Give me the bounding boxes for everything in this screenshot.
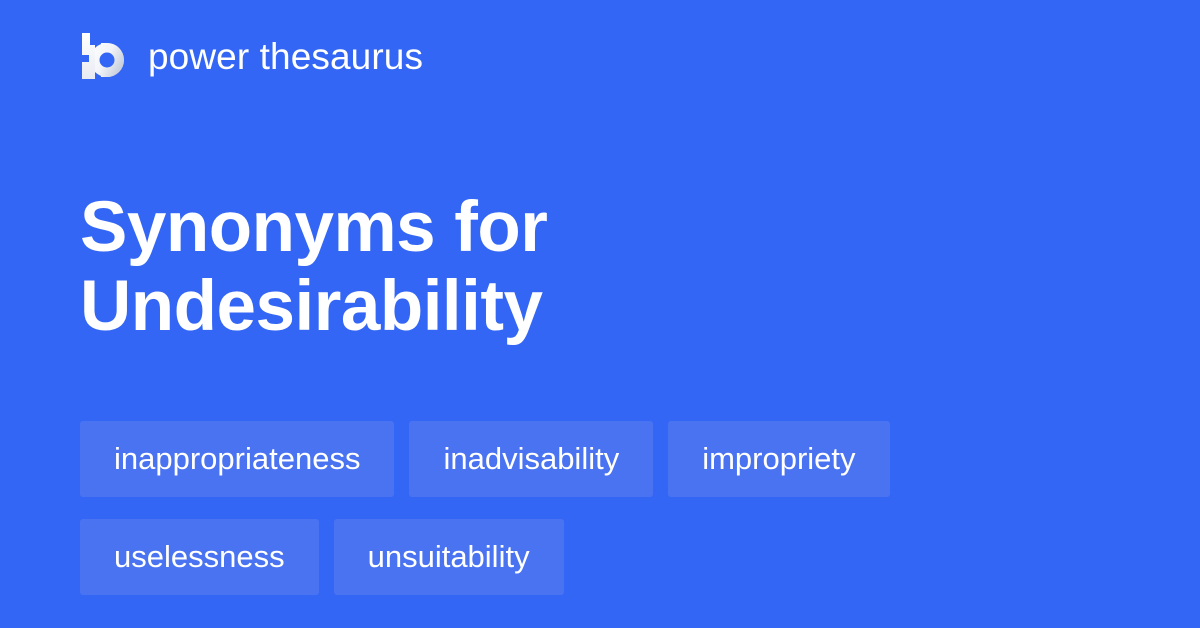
synonym-tag[interactable]: uselessness	[80, 519, 319, 595]
synonym-tag[interactable]: unsuitability	[334, 519, 564, 595]
page-title-line-2: Undesirability	[80, 267, 1080, 347]
synonym-tag[interactable]: impropriety	[668, 421, 889, 497]
share-card: power thesaurus Synonyms for Undesirabil…	[0, 0, 1200, 628]
synonym-tag-row: inappropriateness inadvisability impropr…	[80, 421, 1120, 497]
page-title-line-1: Synonyms for	[80, 188, 1080, 268]
brand-logo[interactable]: power thesaurus	[80, 28, 423, 84]
synonym-tag[interactable]: inadvisability	[409, 421, 653, 497]
synonym-tag-row: uselessness unsuitability	[80, 519, 1120, 595]
page-title: Synonyms for Undesirability	[80, 188, 1080, 347]
synonym-tag-list: inappropriateness inadvisability impropr…	[80, 421, 1120, 595]
power-thesaurus-b-logo-icon	[80, 31, 126, 81]
synonym-tag[interactable]: inappropriateness	[80, 421, 394, 497]
brand-name: power thesaurus	[148, 38, 423, 75]
